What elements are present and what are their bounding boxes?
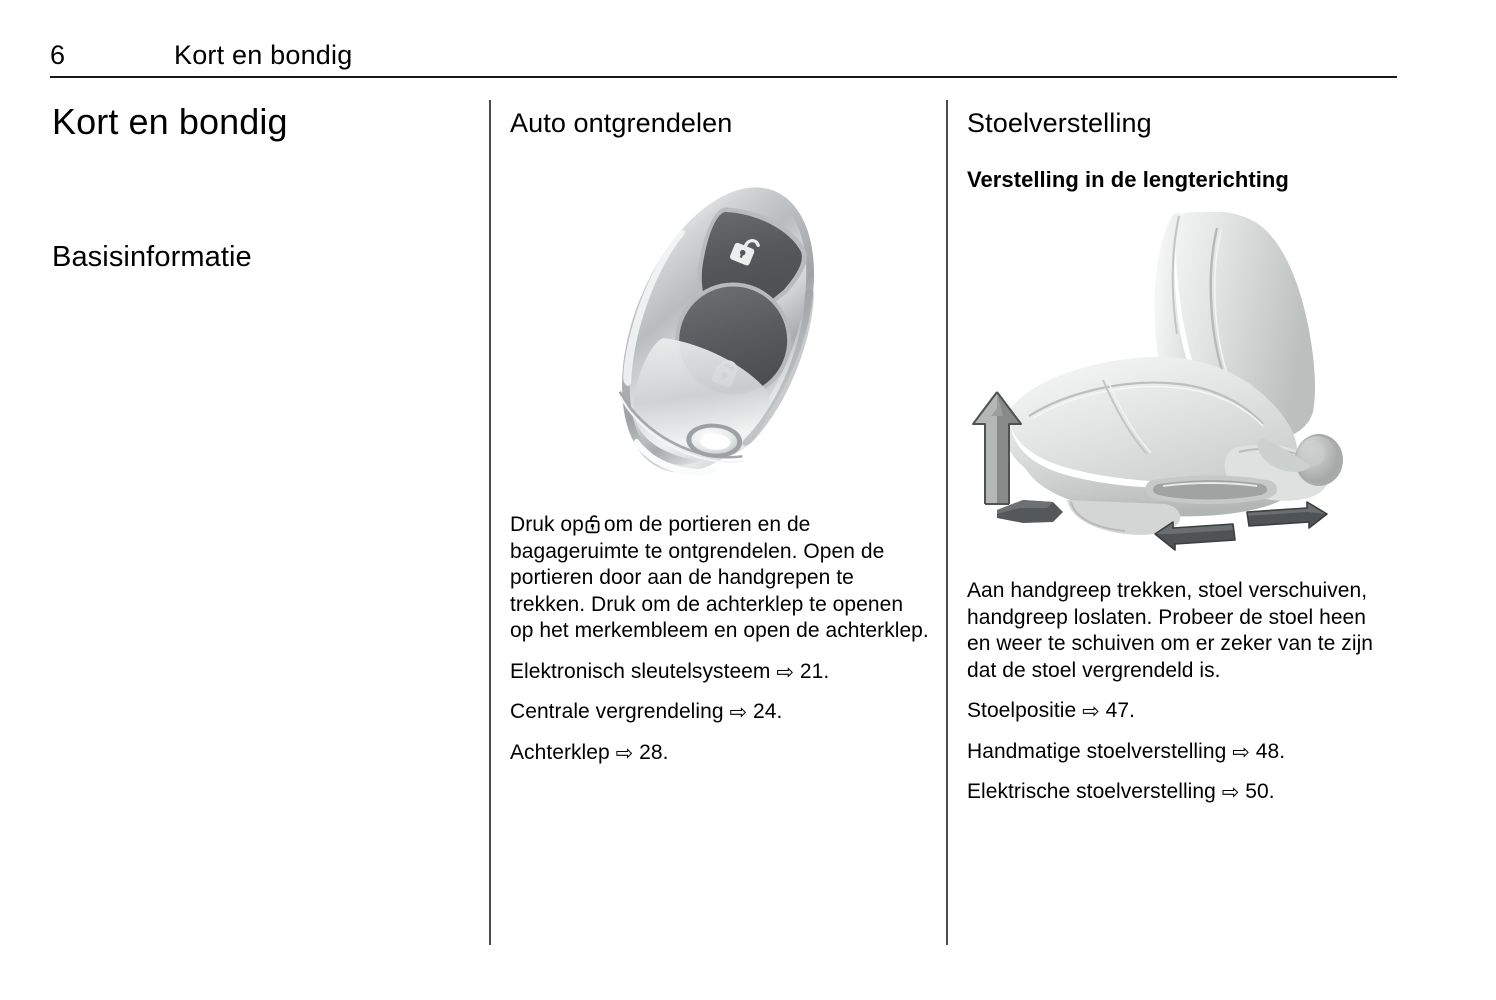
page-number: 6 xyxy=(50,38,65,72)
cross-reference-label: Centrale vergrendeling xyxy=(510,700,724,723)
cross-reference-page: 47. xyxy=(1106,699,1135,722)
page-header: 6 Kort en bondig xyxy=(50,38,1396,78)
manual-page: 6 Kort en bondig Kort en bondig Basisinf… xyxy=(0,0,1496,1000)
cross-reference-page: 21. xyxy=(800,660,829,683)
seat-adjustment-illustration xyxy=(967,212,1387,562)
cross-reference: Handmatige stoelverstelling ⇨ 48. xyxy=(967,739,1387,766)
cross-reference-list-right: Stoelpositie ⇨ 47. Handmatige stoelverst… xyxy=(967,698,1387,806)
section-title-stoelverstelling: Stoelverstelling xyxy=(967,106,1387,140)
cross-reference-page: 28. xyxy=(639,741,668,764)
cross-reference-label: Elektronisch sleutelsysteem xyxy=(510,660,770,683)
column-divider-2 xyxy=(946,100,948,945)
cross-reference: Elektrische stoelverstelling ⇨ 50. xyxy=(967,779,1387,806)
cross-reference: Stoelpositie ⇨ 47. xyxy=(967,698,1387,725)
cross-reference: Achterklep ⇨ 28. xyxy=(510,740,930,767)
seat-description: Aan handgreep trekken, stoel verschuiven… xyxy=(967,578,1387,684)
page-reference-arrow-icon: ⇨ xyxy=(1232,740,1250,767)
page-reference-arrow-icon: ⇨ xyxy=(1222,780,1240,807)
section-title-basisinformatie: Basisinformatie xyxy=(52,239,472,275)
page-reference-arrow-icon: ⇨ xyxy=(616,741,634,768)
column-left: Kort en bondig Basisinformatie xyxy=(52,100,472,275)
header-divider xyxy=(50,76,1397,78)
cross-reference-page: 24. xyxy=(753,700,782,723)
column-middle: Auto ontgrendelen xyxy=(510,100,930,766)
cross-reference-label: Handmatige stoelverstelling xyxy=(967,740,1226,763)
key-fob-illustration xyxy=(510,162,930,502)
instruction-lead: Druk op xyxy=(510,513,584,536)
key-fob-description: Druk opom de portieren en de bagageruimt… xyxy=(510,512,930,645)
cross-reference: Centrale vergrendeling ⇨ 24. xyxy=(510,699,930,726)
cross-reference-list-middle: Elektronisch sleutelsysteem ⇨ 21. Centra… xyxy=(510,659,930,767)
cross-reference-label: Stoelpositie xyxy=(967,699,1076,722)
column-divider-1 xyxy=(489,100,491,945)
cross-reference: Elektronisch sleutelsysteem ⇨ 21. xyxy=(510,659,930,686)
unlock-icon xyxy=(585,514,601,535)
cross-reference-page: 50. xyxy=(1245,780,1274,803)
unlock-instructions: Druk opom de portieren en de bagageruimt… xyxy=(510,512,930,645)
subsection-title-lengterichting: Verstelling in de lengterichting xyxy=(967,166,1387,194)
header-chapter-title: Kort en bondig xyxy=(174,38,352,72)
page-reference-arrow-icon: ⇨ xyxy=(729,700,747,727)
page-reference-arrow-icon: ⇨ xyxy=(1082,699,1100,726)
section-title-auto-ontgrendelen: Auto ontgrendelen xyxy=(510,106,930,140)
seat-instructions: Aan handgreep trekken, stoel verschuiven… xyxy=(967,578,1387,684)
column-right: Stoelverstelling Verstelling in de lengt… xyxy=(967,100,1387,806)
chapter-title: Kort en bondig xyxy=(52,100,472,144)
cross-reference-page: 48. xyxy=(1256,740,1285,763)
cross-reference-label: Achterklep xyxy=(510,741,610,764)
cross-reference-label: Elektrische stoelverstelling xyxy=(967,780,1216,803)
page-reference-arrow-icon: ⇨ xyxy=(776,660,794,687)
